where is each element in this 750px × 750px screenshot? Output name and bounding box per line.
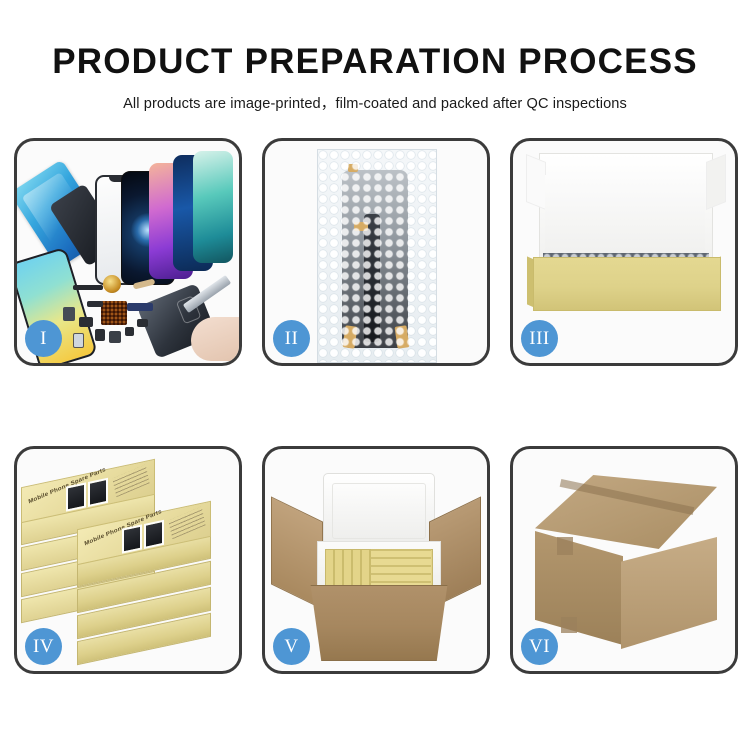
hand-icon (191, 317, 239, 361)
carton-right-face-icon (621, 537, 717, 649)
box-window-icon (88, 478, 108, 507)
chip-grid-icon (101, 301, 127, 325)
small-part-icon (79, 317, 93, 327)
board-connector-icon (127, 303, 153, 311)
small-part-icon (125, 327, 134, 336)
carton-tape-icon (561, 617, 577, 633)
process-step-grid: I II (14, 138, 738, 682)
carton-left-face-icon (535, 531, 623, 645)
step-panel-3[interactable]: III (510, 138, 738, 366)
box-stack: Mobile Phone Spare Parts Mobile Phone Sp… (21, 463, 237, 659)
flex-cable-icon (73, 285, 103, 290)
gold-tab-icon (354, 222, 368, 231)
foam-box-lid-icon (323, 473, 435, 549)
small-part-icon (87, 301, 103, 307)
step-panel-1[interactable]: I (14, 138, 242, 366)
packed-boxes-icon (371, 549, 431, 589)
small-part-icon (63, 307, 75, 321)
gold-tab-icon (348, 164, 358, 172)
page-subtitle: All products are image-printed，film-coat… (0, 79, 750, 113)
step-panel-5[interactable]: V (262, 446, 490, 674)
step-panel-6[interactable]: VI (510, 446, 738, 674)
step-badge-3: III (521, 320, 558, 357)
box-spec-lines-icon (112, 464, 149, 497)
header: PRODUCT PREPARATION PROCESS All products… (0, 0, 750, 113)
phone-display-teal-icon (193, 151, 233, 263)
step-badge-6: VI (521, 628, 558, 665)
small-part-icon (137, 319, 148, 327)
step-badge-1: I (25, 320, 62, 357)
bubble-bag-icon (317, 149, 437, 363)
step-panel-2[interactable]: II (262, 138, 490, 366)
page-title: PRODUCT PREPARATION PROCESS (0, 0, 750, 79)
carton-tape-icon (557, 537, 573, 555)
speaker-coil-icon (103, 275, 121, 293)
box-window-icon (122, 524, 142, 553)
step-badge-4: IV (25, 628, 62, 665)
small-part-icon (95, 329, 105, 341)
box-window-icon (144, 520, 164, 549)
box-window-icon (66, 482, 86, 511)
small-part-icon (73, 333, 84, 348)
kraft-tray-icon (533, 257, 721, 311)
step-panel-4[interactable]: Mobile Phone Spare Parts Mobile Phone Sp… (14, 446, 242, 674)
flex-strip-icon (364, 214, 380, 342)
carton-front-wall-icon (303, 585, 455, 661)
box-spec-lines-icon (168, 506, 205, 539)
step-badge-5: V (273, 628, 310, 665)
small-part-icon (109, 331, 121, 343)
product-preparation-infographic: PRODUCT PREPARATION PROCESS All products… (0, 0, 750, 750)
foam-sheet-icon (545, 175, 705, 257)
step-badge-2: II (273, 320, 310, 357)
